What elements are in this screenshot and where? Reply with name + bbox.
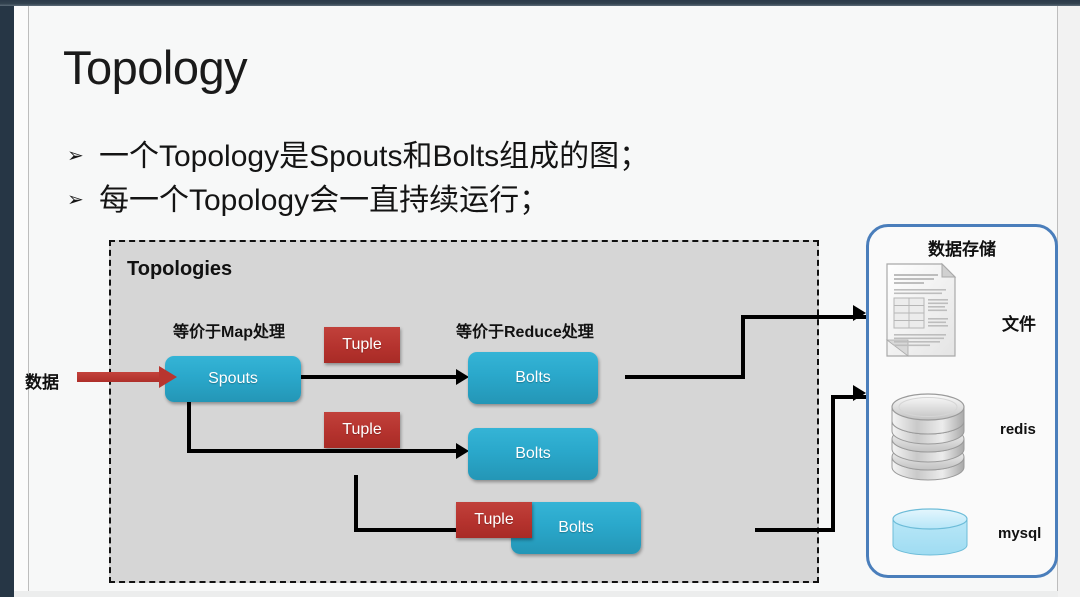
input-arrow-shaft	[77, 372, 161, 382]
node-bolts-1[interactable]: Bolts	[468, 352, 598, 404]
database-stack-icon	[886, 389, 970, 481]
list-item: ➢ 一个Topology是Spouts和Bolts组成的图；	[63, 136, 963, 180]
node-spouts[interactable]: Spouts	[165, 356, 301, 402]
data-storage-title: 数据存储	[869, 235, 1055, 260]
arrowhead-icon	[853, 305, 866, 321]
reduce-stage-label: 等价于Reduce处理	[456, 318, 594, 342]
topologies-container: Topologies 等价于Map处理 等价于Reduce处理	[109, 240, 819, 583]
bullet-marker-icon: ➢	[63, 180, 99, 220]
bullet-text: 一个Topology是Spouts和Bolts组成的图；	[99, 136, 649, 178]
connector-bolts3-out-v	[831, 395, 835, 532]
window-left-border	[0, 0, 14, 597]
storage-item-label-file: 文件	[1002, 310, 1036, 335]
page-title: Topology	[63, 44, 247, 91]
topologies-label: Topologies	[127, 258, 232, 281]
window-right-margin	[1058, 6, 1080, 597]
connector-bolts3-out-h1	[755, 528, 835, 532]
map-stage-label: 等价于Map处理	[173, 318, 285, 342]
storage-item-label-mysql: mysql	[998, 525, 1041, 542]
connector-bolts2-down	[354, 475, 358, 532]
input-data-label: 数据	[25, 368, 59, 393]
node-label: Bolts	[558, 519, 594, 537]
database-cylinder-icon	[890, 508, 970, 556]
node-label: Spouts	[208, 370, 258, 388]
arrowhead-icon	[853, 385, 866, 401]
connector-bolts1-out-h1	[625, 375, 745, 379]
bullet-text: 每一个Topology会一直持续运行；	[99, 180, 549, 222]
connector-bolts1-out-v	[741, 315, 745, 379]
slide-left-margin	[14, 6, 28, 591]
slide-viewer: Topology ➢ 一个Topology是Spouts和Bolts组成的图； …	[0, 0, 1080, 597]
document-icon	[884, 262, 958, 358]
tuple-label: Tuple	[342, 421, 381, 439]
tuple-badge-1[interactable]: Tuple	[324, 327, 400, 363]
input-arrow-head-icon	[159, 366, 177, 388]
tuple-label: Tuple	[474, 511, 513, 529]
connector-bolts1-out-h2	[741, 315, 871, 319]
bullet-marker-icon: ➢	[63, 136, 99, 176]
node-label: Bolts	[515, 445, 551, 463]
tuple-badge-2[interactable]: Tuple	[324, 412, 400, 448]
tuple-label: Tuple	[342, 336, 381, 354]
connector-to-bolts2	[187, 449, 461, 453]
tuple-badge-3[interactable]: Tuple	[456, 502, 532, 538]
node-bolts-2[interactable]: Bolts	[468, 428, 598, 480]
storage-item-label-redis: redis	[1000, 421, 1036, 438]
list-item: ➢ 每一个Topology会一直持续运行；	[63, 180, 963, 224]
node-label: Bolts	[515, 369, 551, 387]
bullet-list: ➢ 一个Topology是Spouts和Bolts组成的图； ➢ 每一个Topo…	[63, 136, 963, 224]
